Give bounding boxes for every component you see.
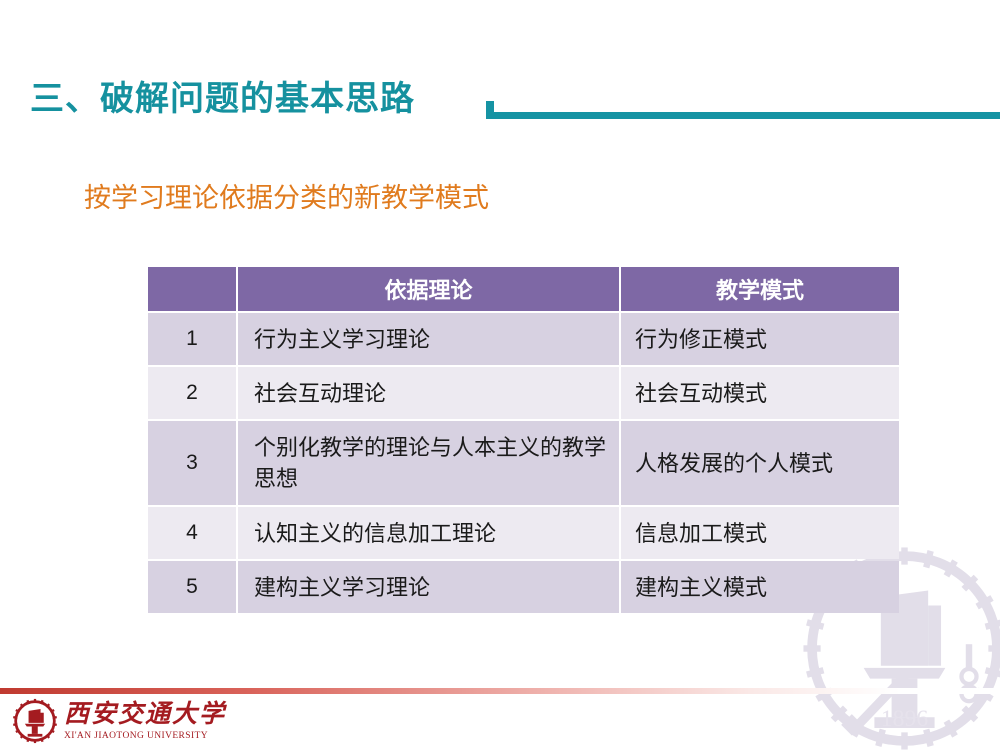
watermark-year: 1896	[881, 706, 928, 732]
section-subtitle: 按学习理论依据分类的新教学模式	[84, 181, 489, 215]
cell-mode: 建构主义模式	[621, 561, 899, 613]
table-row: 5 建构主义学习理论 建构主义模式	[148, 561, 899, 613]
cell-index: 2	[148, 367, 236, 419]
cell-theory: 认知主义的信息加工理论	[238, 507, 619, 559]
cell-theory: 社会互动理论	[238, 367, 619, 419]
cell-mode: 信息加工模式	[621, 507, 899, 559]
university-emblem-icon	[12, 698, 58, 744]
cell-index: 4	[148, 507, 236, 559]
table-row: 1 行为主义学习理论 行为修正模式	[148, 313, 899, 365]
table-header-row: 依据理论 教学模式	[148, 267, 899, 311]
cell-mode: 社会互动模式	[621, 367, 899, 419]
table-row: 3 个别化教学的理论与人本主义的教学思想 人格发展的个人模式	[148, 421, 899, 505]
cell-theory: 行为主义学习理论	[238, 313, 619, 365]
page-title: 三、破解问题的基本思路	[30, 78, 415, 120]
column-header-mode: 教学模式	[621, 267, 899, 311]
cell-mode: 行为修正模式	[621, 313, 899, 365]
table-row: 4 认知主义的信息加工理论 信息加工模式	[148, 507, 899, 559]
cell-index: 1	[148, 313, 236, 365]
logo-name-en: XI'AN JIAOTONG UNIVERSITY	[64, 730, 226, 742]
cell-theory: 建构主义学习理论	[238, 561, 619, 613]
column-header-theory: 依据理论	[238, 267, 619, 311]
footer-divider	[0, 688, 1000, 694]
title-underline	[490, 112, 1000, 119]
cell-theory: 个别化教学的理论与人本主义的教学思想	[238, 421, 619, 505]
slide-canvas: 1896 三、破解问题的基本思路 按学习理论依据分类的新教学模式 依据理论 教学…	[0, 0, 1000, 750]
teaching-models-table: 依据理论 教学模式 1 行为主义学习理论 行为修正模式 2 社会互动理论 社会互…	[146, 265, 901, 615]
column-header-index	[148, 267, 236, 311]
cell-index: 5	[148, 561, 236, 613]
title-block: 三、破解问题的基本思路	[0, 78, 1000, 130]
cell-index: 3	[148, 421, 236, 505]
university-logo: 西安交通大学 XI'AN JIAOTONG UNIVERSITY	[12, 698, 226, 744]
hammer-icon	[841, 672, 909, 735]
table-row: 2 社会互动理论 社会互动模式	[148, 367, 899, 419]
cell-mode: 人格发展的个人模式	[621, 421, 899, 505]
logo-wordmark: 西安交通大学 XI'AN JIAOTONG UNIVERSITY	[64, 701, 226, 742]
logo-name-cn: 西安交通大学	[64, 701, 226, 729]
